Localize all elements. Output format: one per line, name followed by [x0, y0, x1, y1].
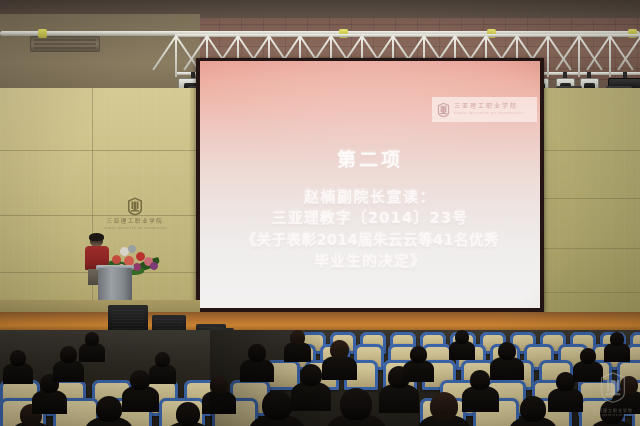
slide-body-line-2: 三亚理教字〔2014〕23号 [200, 208, 540, 229]
slide-body: 赵楠副院长宣读： 三亚理教字〔2014〕23号 《关于表彰2014届朱云云等41… [200, 187, 540, 272]
audience-shoulders [403, 360, 434, 382]
truss-vertical [609, 36, 611, 77]
audience-head [340, 388, 372, 420]
audience-head [130, 370, 150, 390]
audience-head [60, 346, 77, 363]
wall-seam [0, 150, 196, 151]
audience-shoulders [604, 343, 630, 361]
audience-head [96, 396, 122, 422]
wall-seam [92, 88, 93, 328]
wall-seam [543, 292, 640, 293]
aisle-shadow [210, 330, 320, 426]
audience-head [10, 350, 26, 366]
slide-body-line-3: 《关于表彰2014届朱云云等41名优秀 [200, 230, 540, 251]
air-conditioning-vent [30, 36, 100, 52]
photo-watermark: 三亚理工职业学院 SANYA INSTITUTE OF TECHNOLOGY [592, 372, 634, 420]
audience-head [556, 372, 575, 391]
audience-head [176, 402, 200, 426]
auditorium-photo: 三亚理工职业学院 SANYA INSTITUTE OF TECHNOLOGY 三… [0, 0, 640, 426]
slide-body-line-1: 赵楠副院长宣读： [200, 187, 540, 208]
slide-corner-logo: 三亚理工职业学院 SANYA INSTITUTE OF TECHNOLOGY [432, 97, 537, 122]
audience-head [410, 346, 427, 363]
speaker-hair [89, 233, 104, 241]
watermark-emblem-icon [600, 372, 626, 403]
audience-head [85, 332, 99, 346]
slide-body-line-4: 毕业生的决定》 [200, 251, 540, 272]
wall-seam [0, 215, 196, 216]
ceiling-left-soffit [0, 14, 200, 96]
audience-head [430, 392, 458, 420]
audience-shoulders [322, 356, 357, 381]
projection-screen: 三亚理工职业学院 SANYA INSTITUTE OF TECHNOLOGY 第… [200, 61, 540, 308]
slide-logo-cn: 三亚理工职业学院 [454, 104, 524, 110]
audience-head [498, 342, 516, 360]
audience-head [520, 396, 546, 422]
audience-head [155, 352, 170, 367]
audience-shoulders [149, 364, 177, 384]
truss-vertical [175, 36, 177, 77]
audience-shoulders [53, 360, 84, 382]
audience-shoulders [490, 357, 523, 380]
audience-shoulders [449, 341, 475, 359]
audience-shoulders [379, 384, 420, 413]
audience-shoulders [462, 386, 499, 412]
audience-head [580, 348, 596, 364]
audience-shoulders [79, 343, 105, 361]
audience-shoulders [122, 386, 159, 412]
projection-screen-frame: 三亚理工职业学院 SANYA INSTITUTE OF TECHNOLOGY 第… [196, 58, 544, 312]
wall-seam [543, 150, 640, 151]
slide-emblem-icon [437, 102, 450, 118]
audience-head [455, 330, 469, 344]
wall-institute-logo: 三亚理工职业学院 SANYA INSTITUTE OF TECHNOLOGY [104, 197, 166, 229]
wall-seam [543, 198, 640, 199]
audience-shoulders [3, 363, 33, 384]
wall-seam [543, 248, 640, 249]
wall-logo-en: SANYA INSTITUTE OF TECHNOLOGY [104, 226, 166, 230]
audience-seating [0, 330, 640, 426]
audience-head [470, 370, 490, 390]
truss-vertical [578, 36, 580, 77]
watermark-en: SANYA INSTITUTE OF TECHNOLOGY [592, 414, 634, 417]
wall-logo-cn: 三亚理工职业学院 [104, 217, 166, 225]
audience-head [330, 340, 349, 359]
slide-title: 第二项 [200, 145, 540, 172]
truss-vertical [547, 36, 549, 77]
audience-shoulders [548, 388, 583, 413]
audience-shoulders [32, 390, 67, 415]
audience-head [610, 332, 624, 346]
institute-emblem-icon [127, 197, 143, 216]
slide-logo-en: SANYA INSTITUTE OF TECHNOLOGY [454, 112, 524, 115]
pipe-clamp [38, 29, 47, 38]
